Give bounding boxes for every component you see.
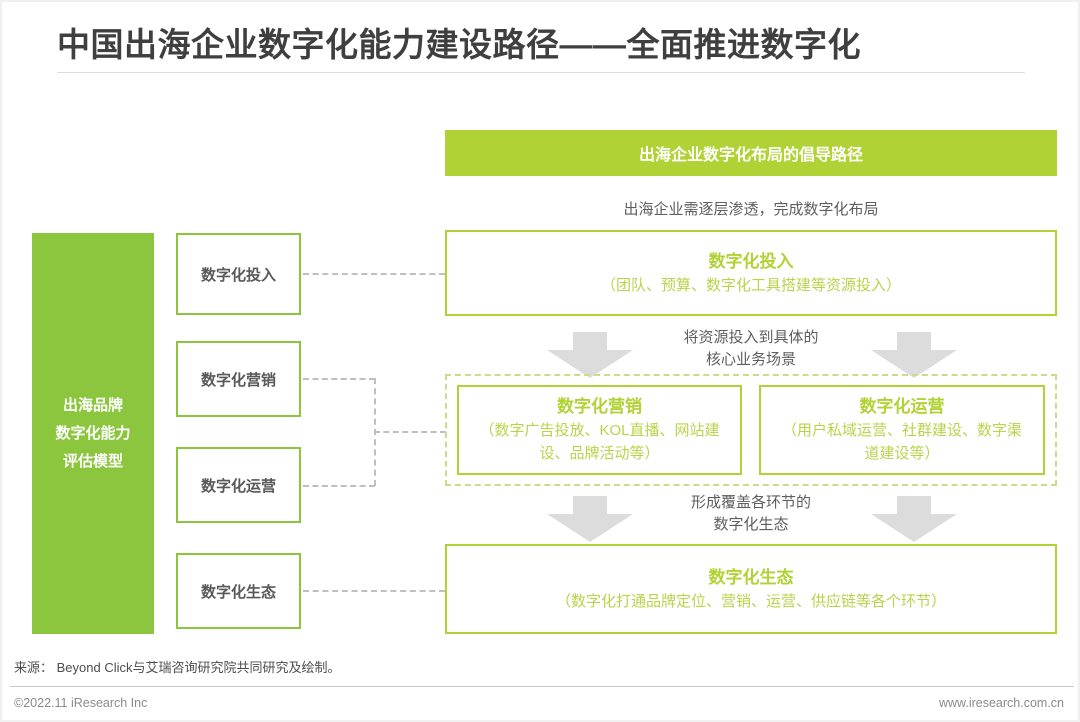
- panel-description: （数字化打通品牌定位、营销、运营、供应链等各个环节）: [556, 590, 946, 613]
- panel-digital-investment[interactable]: 数字化投入 （团队、预算、数字化工具搭建等资源投入）: [445, 230, 1057, 316]
- capability-box-ecosystem[interactable]: 数字化生态: [176, 553, 301, 629]
- down-arrow-icon-right-top: [871, 332, 957, 378]
- copyright-text: ©2022.11 iResearch Inc: [14, 696, 147, 710]
- capability-label: 数字化投入: [201, 264, 276, 285]
- capability-box-investment[interactable]: 数字化投入: [176, 233, 301, 315]
- right-subtitle: 出海企业需逐层渗透，完成数字化布局: [445, 198, 1057, 219]
- title-divider: [57, 72, 1025, 73]
- panel-digital-ecosystem[interactable]: 数字化生态 （数字化打通品牌定位、营销、运营、供应链等各个环节）: [445, 544, 1057, 634]
- capability-label: 数字化运营: [201, 475, 276, 496]
- panel-digital-operations[interactable]: 数字化运营 （用户私域运营、社群建设、数字渠道建设等）: [759, 385, 1045, 475]
- panel-title: 数字化生态: [709, 566, 794, 590]
- connector-operations-stub: [303, 485, 375, 487]
- connector-bracket-to-panels: [374, 431, 446, 433]
- down-arrow-icon-left-top: [547, 332, 633, 378]
- capability-box-marketing[interactable]: 数字化营销: [176, 341, 301, 417]
- capability-label: 数字化生态: [201, 581, 276, 602]
- model-line-3: 评估模型: [63, 448, 123, 476]
- panel-title: 数字化运营: [860, 395, 945, 419]
- note-top: 将资源投入到具体的核心业务场景: [626, 327, 876, 371]
- connector-ecosystem: [303, 590, 445, 592]
- source-note: 来源： Beyond Click与艾瑞咨询研究院共同研究及绘制。: [14, 657, 340, 676]
- model-block: 出海品牌 数字化能力 评估模型: [32, 233, 154, 634]
- connector-marketing-stub: [303, 378, 375, 380]
- right-header-label: 出海企业数字化布局的倡导路径: [639, 141, 863, 165]
- slide-canvas: 中国出海企业数字化能力建设路径——全面推进数字化 出海品牌 数字化能力 评估模型…: [0, 0, 1080, 722]
- footer-divider: [10, 686, 1074, 687]
- down-arrow-icon-right-bottom: [871, 496, 957, 542]
- model-line-2: 数字化能力: [55, 420, 130, 448]
- panel-title: 数字化投入: [709, 250, 794, 274]
- panel-description: （用户私域运营、社群建设、数字渠道建设等）: [776, 419, 1028, 465]
- panel-digital-marketing[interactable]: 数字化营销 （数字广告投放、KOL直播、网站建设、品牌活动等）: [457, 385, 742, 475]
- page-title: 中国出海企业数字化能力建设路径——全面推进数字化: [57, 18, 861, 66]
- down-arrow-icon-left-bottom: [547, 496, 633, 542]
- capability-box-operations[interactable]: 数字化运营: [176, 447, 301, 523]
- note-bottom: 形成覆盖各环节的数字化生态: [626, 492, 876, 536]
- connector-investment: [303, 273, 445, 275]
- panel-description: （团队、预算、数字化工具搭建等资源投入）: [601, 274, 901, 297]
- right-header-bar: 出海企业数字化布局的倡导路径: [445, 130, 1057, 176]
- capability-label: 数字化营销: [201, 369, 276, 390]
- panel-title: 数字化营销: [557, 395, 642, 419]
- model-line-1: 出海品牌: [63, 392, 123, 420]
- website-link[interactable]: www.iresearch.com.cn: [939, 696, 1064, 710]
- panel-description: （数字广告投放、KOL直播、网站建设、品牌活动等）: [475, 419, 725, 465]
